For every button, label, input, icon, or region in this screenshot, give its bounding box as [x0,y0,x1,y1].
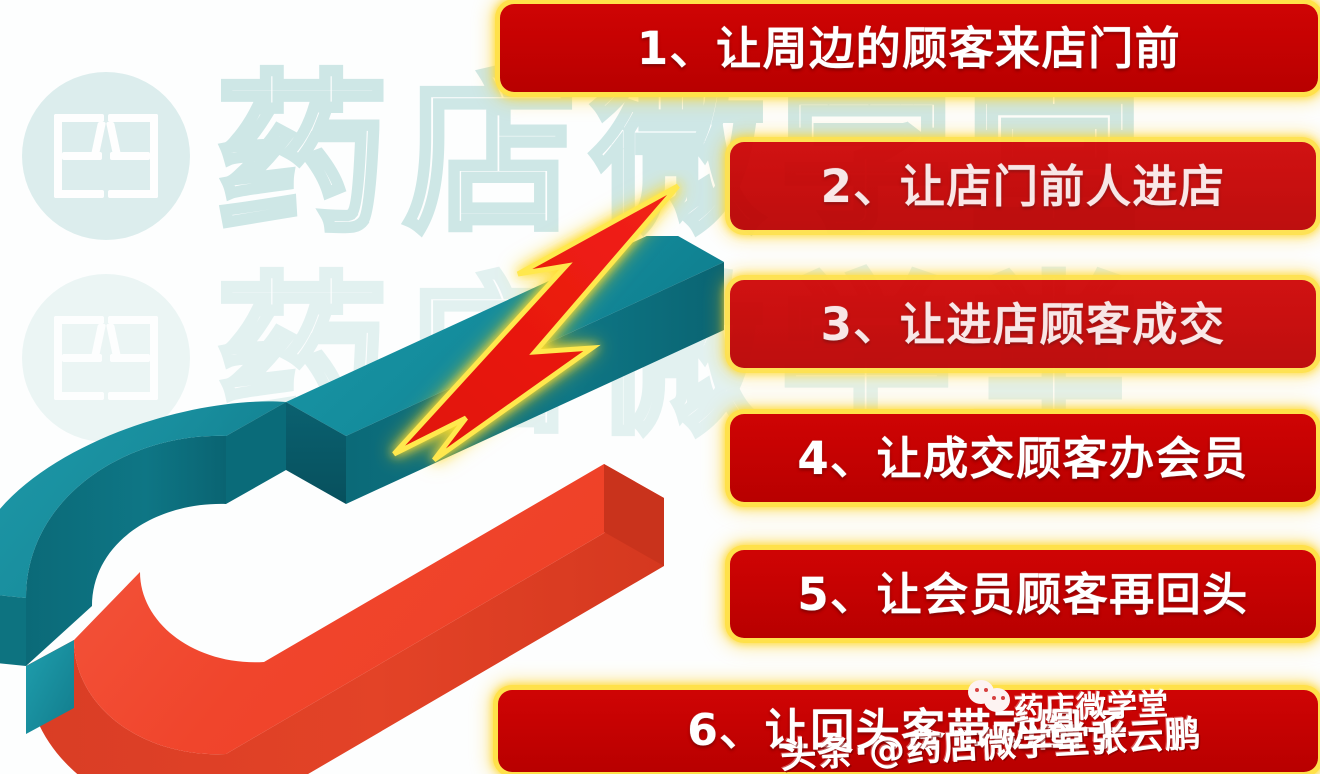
step-banner-2-label: 2、让店门前人进店 [821,164,1226,209]
step-banner-6[interactable]: 6、让回头客带动圈子 [498,690,1318,772]
step-banner-4[interactable]: 4、让成交顾客办会员 [730,414,1316,502]
step-banner-2[interactable]: 2、让店门前人进店 [730,142,1316,230]
slide-canvas: 药店微学堂 药店微学堂 [0,0,1320,774]
steps-banner-list: 1、让周边的顾客来店门前 2、让店门前人进店 3、让进店顾客成交 4、让成交顾客… [0,0,1320,774]
step-banner-6-label: 6、让回头客带动圈子 [687,709,1129,753]
step-banner-1[interactable]: 1、让周边的顾客来店门前 [500,4,1318,92]
step-banner-3[interactable]: 3、让进店顾客成交 [730,280,1316,368]
step-banner-5-label: 5、让会员顾客再回头 [797,572,1248,617]
step-banner-4-label: 4、让成交顾客办会员 [797,436,1248,481]
step-banner-3-label: 3、让进店顾客成交 [821,302,1226,347]
step-banner-1-label: 1、让周边的顾客来店门前 [637,26,1181,71]
step-banner-5[interactable]: 5、让会员顾客再回头 [730,550,1316,638]
